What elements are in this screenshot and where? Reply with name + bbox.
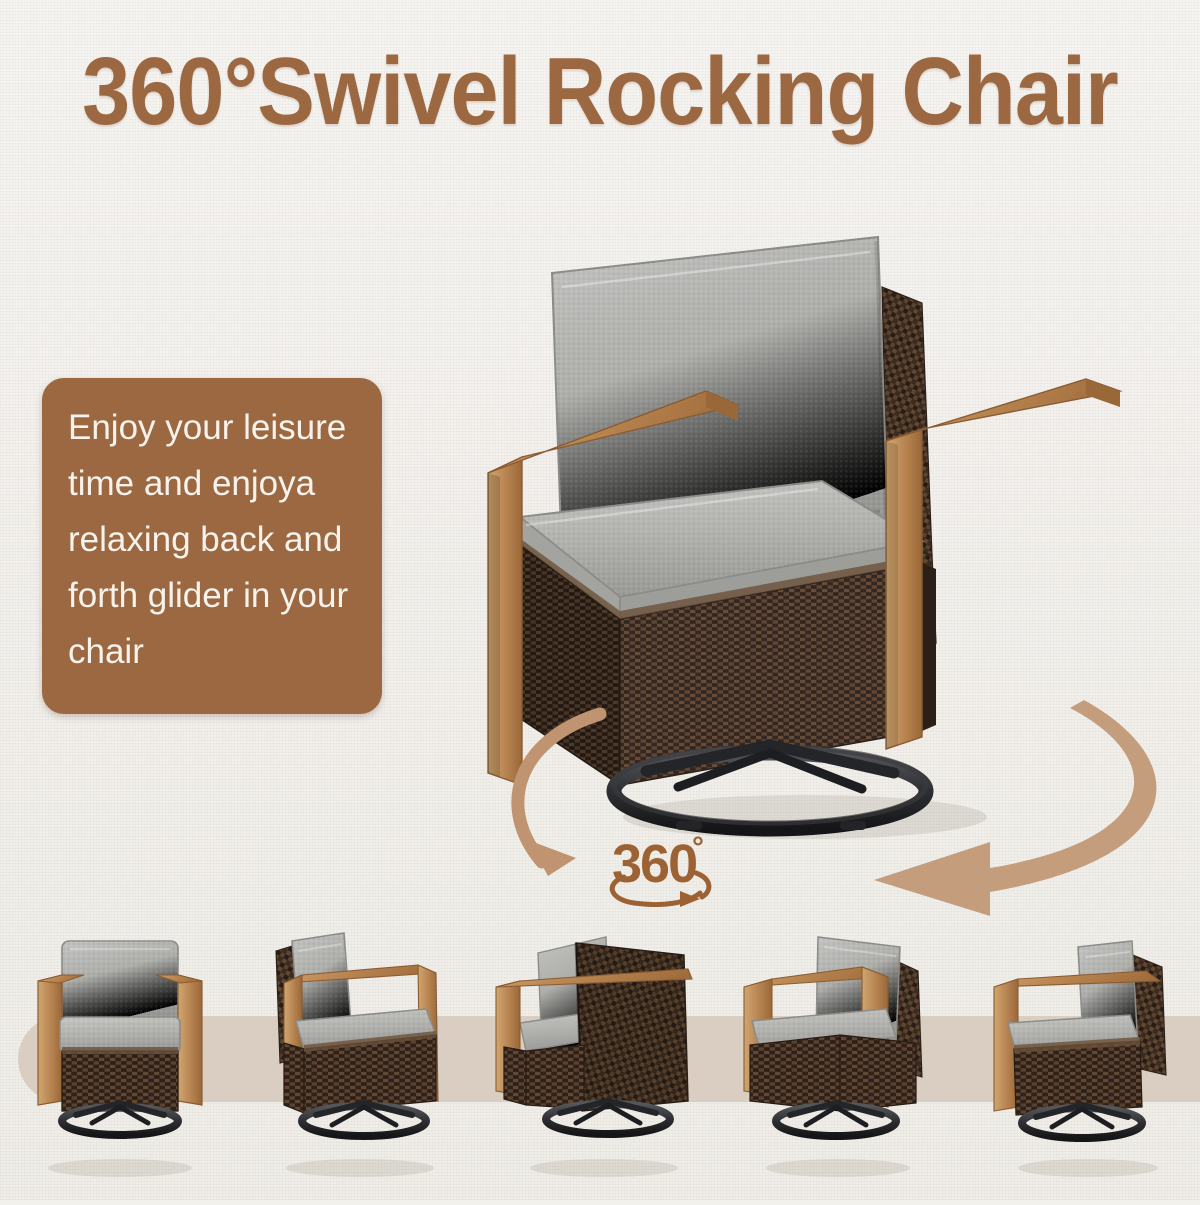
circular-rotation-arrow-icon: [596, 833, 726, 907]
chair-three-quarter-front-illustration: [720, 925, 960, 1200]
thumbnail-side-profile-view[interactable]: [960, 925, 1200, 1200]
rotation-360-badge: 360 °: [596, 833, 726, 907]
chair-three-quarter-left-illustration: [240, 925, 480, 1200]
thumbnail-three-quarter-front-view[interactable]: [720, 925, 960, 1200]
thumbnail-front-view[interactable]: [0, 925, 240, 1200]
chair-front-view-illustration: [0, 925, 240, 1200]
chair-side-profile-illustration: [960, 925, 1200, 1200]
chair-rear-view-illustration: [480, 925, 720, 1200]
product-view-thumbnails: [0, 925, 1200, 1200]
page-title: 360°Swivel Rocking Chair: [60, 44, 1140, 140]
marketing-image-canvas: 360°Swivel Rocking Chair: [0, 0, 1200, 1200]
feature-callout-box: Enjoy your leisure time and enjoya relax…: [42, 378, 382, 714]
callout-text: Enjoy your leisure time and enjoya relax…: [68, 400, 362, 680]
thumbnail-three-quarter-left-view[interactable]: [240, 925, 480, 1200]
thumbnail-rear-view[interactable]: [480, 925, 720, 1200]
